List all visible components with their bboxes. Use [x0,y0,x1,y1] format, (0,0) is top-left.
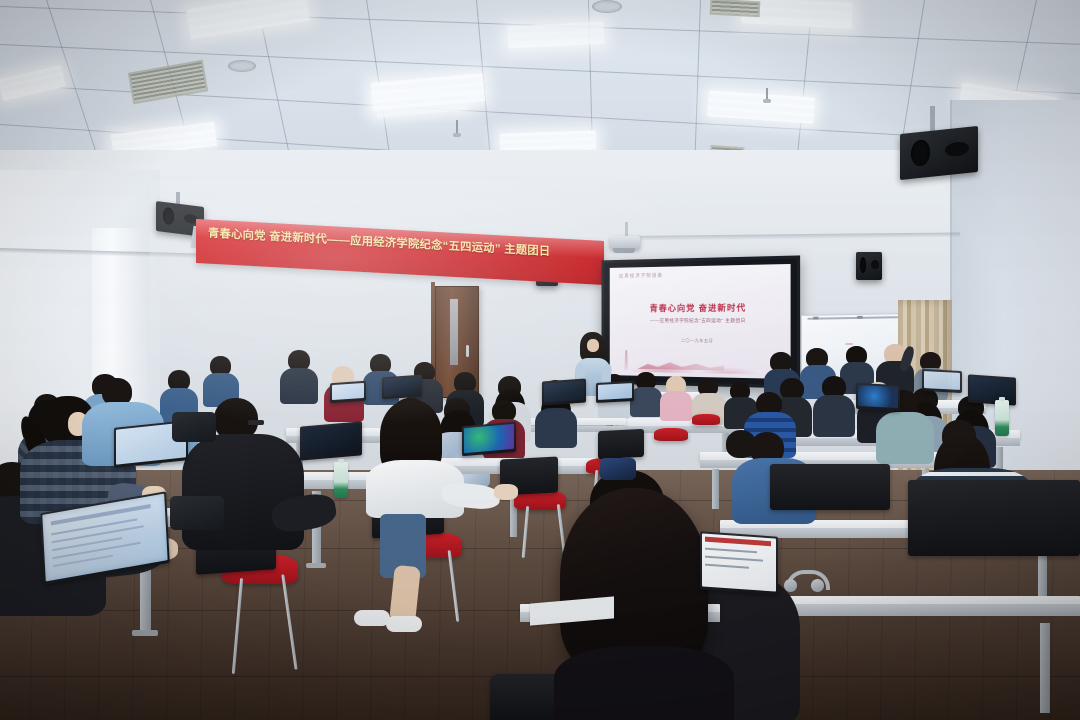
classroom-photo: 青春心向党 奋进新时代——应用经济学院纪念“五四运动” 主题团日 应用经济学院团… [0,0,1080,720]
shoe [354,610,390,626]
chair-back[interactable] [908,480,1080,556]
door-handle[interactable] [466,345,469,357]
glasses [248,420,264,425]
laptop-screen [544,381,584,403]
backpack[interactable] [170,496,224,530]
laptop-screen [924,371,960,390]
smoke-detector [228,60,256,72]
projection-slide: 应用经济学院团委 青春心向党 奋进新时代 ——应用经济学院纪念“五四运动” 主题… [610,264,791,379]
projection-screen: 应用经济学院团委 青春心向党 奋进新时代 ——应用经济学院纪念“五四运动” 主题… [602,255,801,388]
headphone-earcup [784,579,797,592]
slide-header-text: 应用经济学院团委 [619,273,663,280]
whiteboard-clip [813,317,819,320]
laptop-screen [302,423,360,457]
chair-seat[interactable] [654,428,688,441]
slide-subtitle-text: ——应用经济学院纪念“五四运动” 主题团日 [610,318,791,324]
water-bottle[interactable] [995,400,1009,436]
laptop-screen [598,383,632,400]
headphones[interactable] [786,570,822,592]
door-glass-pane [450,299,458,365]
chair-back[interactable] [598,429,644,459]
whiteboard-clip [857,316,863,319]
laptop[interactable] [330,381,366,404]
water-bottle[interactable] [334,462,348,498]
ceiling-projector [610,236,640,249]
laptop[interactable] [922,369,962,393]
laptop-screen [384,377,420,397]
laptop-screen [970,376,1014,402]
laptop[interactable] [700,531,778,594]
headphone-earcup [811,579,824,592]
hand [494,484,518,500]
wall-speaker [856,252,882,280]
laptop[interactable] [542,378,586,405]
chair-back[interactable] [770,464,890,510]
laptop[interactable] [596,381,634,403]
laptop[interactable] [462,422,516,457]
sprinkler-head [766,88,768,100]
chair-seat[interactable] [692,414,720,425]
whiteboard-rail [807,316,901,320]
laptop-screen [858,385,898,408]
laptop[interactable] [382,375,422,400]
ceiling-air-vent [710,0,761,17]
slide-title-text: 青春心向党 奋进新时代 [610,301,791,314]
sprinkler-head [456,120,458,134]
laptop[interactable] [300,421,362,460]
shoe [386,616,422,632]
laptop-screen [332,383,364,400]
backpack[interactable] [600,458,636,480]
backpack[interactable] [172,412,216,442]
laptop[interactable] [856,383,900,411]
shoulder [554,646,734,720]
whiteboard-marking [845,343,853,345]
smoke-detector [592,0,622,13]
laptop-screen [464,424,514,453]
wall-speaker [900,126,978,180]
slide-decoration-art [615,344,784,374]
